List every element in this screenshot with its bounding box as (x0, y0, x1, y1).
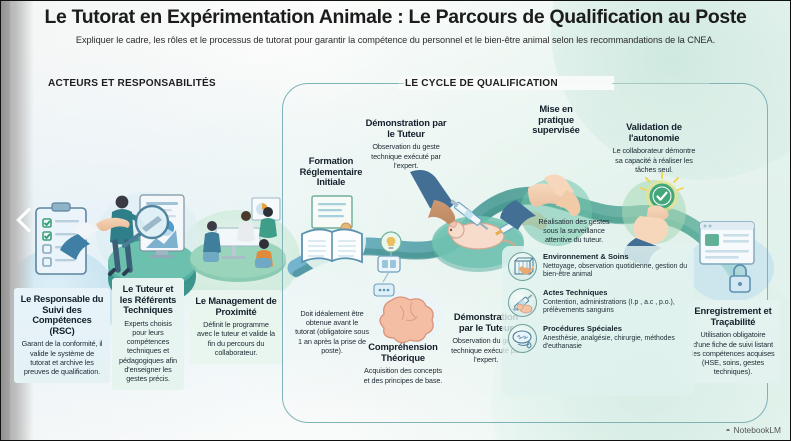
list-item[interactable]: Environnement & Soins Nettoyage, observa… (508, 252, 688, 281)
syringe-icon (508, 288, 537, 317)
competence-body: Anesthésie, analgésie, chirurgie, méthod… (543, 335, 688, 352)
step-enregistrement-tracabilite[interactable]: Enregistrement et Traçabilité Utilisatio… (686, 300, 780, 383)
step-title: Enregistrement et Traçabilité (691, 306, 775, 327)
step-note: Observation du geste technique exécuté p… (365, 142, 447, 170)
step-note: Acquisition des concepts et des principe… (361, 366, 445, 384)
section-header-cycle: LE CYCLE DE QUALIFICATION (405, 78, 558, 89)
competence-body: Nettoyage, observation quotidienne, gest… (543, 263, 688, 280)
actor-title: Le Tuteur et les Référents Techniques (117, 284, 179, 316)
competences-list: Environnement & Soins Nettoyage, observa… (508, 252, 688, 360)
step-title: Validation de l'autonomie (611, 122, 697, 143)
competence-title: Actes Techniques (543, 289, 688, 298)
step-title: Compréhension Théorique (361, 342, 445, 363)
step-title: Démonstration par le Tuteur (365, 118, 447, 139)
surgery-tray-icon (508, 324, 537, 353)
competence-body: Contention, administrations (I.p , a.c ,… (543, 299, 688, 316)
left-edge-dark (0, 0, 10, 441)
actor-card-rsc[interactable]: Le Responsable du Suivi des Compétences … (14, 288, 110, 383)
section-header-actors: ACTEURS ET RESPONSABILITÉS (48, 78, 216, 89)
notebooklm-watermark: ◓ NotebookLM (726, 425, 781, 435)
step-comprehension-theorique[interactable]: Compréhension Théorique Acquisition des … (356, 336, 450, 392)
list-item-text: Actes Techniques Contention, administrat… (543, 288, 688, 316)
actor-body: Experts choisis pour leurs compétences t… (117, 319, 179, 383)
actor-body: Garant de la conformité, il valide le sy… (19, 339, 105, 376)
cage-animal-icon (508, 252, 537, 281)
section-rule-right (612, 83, 710, 84)
section-rule-left (398, 83, 404, 84)
actor-card-management[interactable]: Le Management de Proximité Définit le pr… (190, 290, 282, 364)
list-item[interactable]: Procédures Spéciales Anesthésie, analgés… (508, 324, 688, 353)
step-title: Formation Réglementaire Initiale (297, 156, 365, 188)
competence-title: Procédures Spéciales (543, 325, 688, 334)
actor-body: Définit le programme avec le tuteur et v… (195, 320, 277, 357)
actor-title: Le Responsable du Suivi des Compétences … (19, 294, 105, 336)
section-header-cycle-label: LE CYCLE DE QUALIFICATION (405, 78, 558, 89)
actor-title: Le Management de Proximité (195, 296, 277, 317)
step-title: Mise en pratique supervisée (521, 104, 591, 136)
competence-title: Environnement & Soins (543, 253, 688, 262)
step-mise-en-pratique[interactable]: Mise en pratique supervisée (516, 98, 596, 143)
step-formation-reglementaire[interactable]: Formation Réglementaire Initiale (292, 150, 370, 195)
page-subtitle: Expliquer le cadre, les rôles et le proc… (0, 35, 791, 45)
chevron-left-icon[interactable] (14, 204, 38, 242)
infographic-canvas: Le Tutorat en Expérimentation Animale : … (0, 0, 791, 441)
list-item-text: Procédures Spéciales Anesthésie, analgés… (543, 324, 688, 352)
header: Le Tutorat en Expérimentation Animale : … (0, 6, 791, 45)
step-demonstration-tuteur-top[interactable]: Démonstration par le Tuteur Observation … (360, 112, 452, 177)
list-item[interactable]: Actes Techniques Contention, administrat… (508, 288, 688, 317)
step-note: Le collaborateur démontre sa capacité à … (611, 146, 697, 174)
step-note: Réalisation des gestes sous la surveilla… (537, 217, 611, 245)
notebooklm-logo-icon: ◓ (726, 426, 731, 435)
list-item-text: Environnement & Soins Nettoyage, observa… (543, 252, 688, 280)
section-header-actors-label: ACTEURS ET RESPONSABILITÉS (48, 78, 216, 89)
page-title: Le Tutorat en Expérimentation Animale : … (0, 6, 791, 29)
step-validation-autonomie[interactable]: Validation de l'autonomie Le collaborate… (606, 116, 702, 181)
notebooklm-label: NotebookLM (734, 425, 782, 435)
actor-card-tuteur[interactable]: Le Tuteur et les Référents Techniques Ex… (112, 278, 184, 390)
step-note: Utilisation obligatoire d'une fiche de s… (691, 330, 775, 376)
